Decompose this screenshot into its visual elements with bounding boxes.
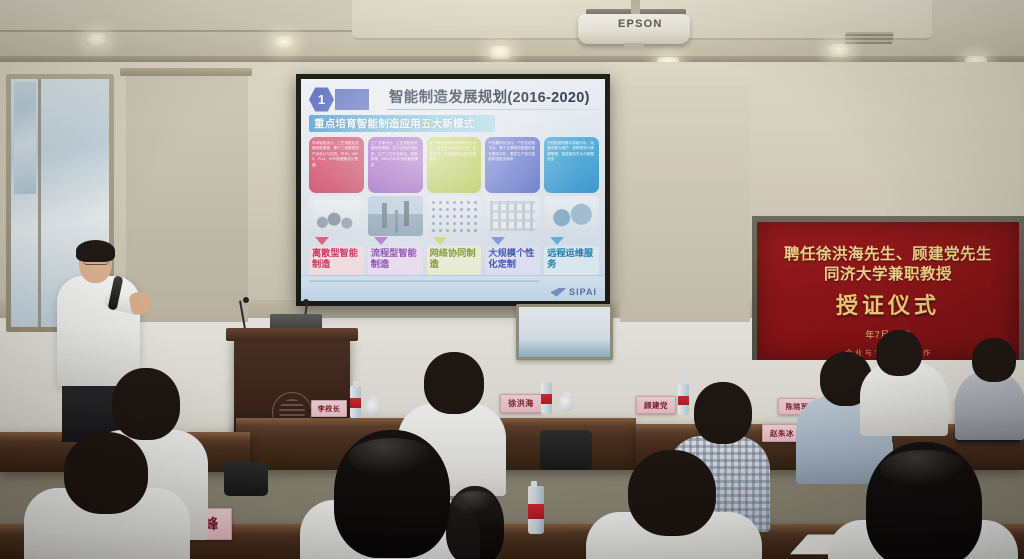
audience-hair-long (446, 486, 504, 559)
chair (224, 462, 268, 496)
slide-column-image (427, 196, 482, 236)
slide-column-image (544, 196, 599, 236)
slide-column-image (485, 196, 540, 236)
chevron-down-icon (491, 237, 505, 245)
slide-column-label: 流程型智能制造 (368, 246, 423, 276)
remote-service-icon (547, 199, 596, 233)
slide-column-body: 车间智能设计、工艺流程及关键参数建模、基于三维模型的产品设计与仿真、PDM、ME… (309, 137, 364, 193)
swoosh-icon (550, 288, 566, 297)
confidence-monitor-screen (519, 307, 610, 357)
blind-headrail (120, 68, 252, 76)
audience-head (628, 450, 716, 536)
module-grid-icon (490, 201, 535, 231)
tea-cup (366, 400, 381, 415)
glasses-icon (83, 259, 109, 265)
slide-footer-text-lines (309, 280, 539, 296)
slide-section-badge: 1 (309, 85, 385, 113)
network-diagram-icon (430, 199, 479, 233)
placard-name: 李校长 (318, 404, 341, 414)
machine-photo-icon (313, 200, 360, 232)
slide-title-rule (387, 109, 601, 110)
window-pane (14, 82, 36, 194)
banner-headline: 授证仪式 (757, 288, 1019, 320)
air-vent (844, 32, 893, 44)
placard-name: 赵朱冰 (770, 428, 794, 439)
water-bottle (678, 384, 689, 415)
chevron-down-icon (315, 237, 329, 245)
slide-column-body: 工厂总体设计、工艺流程及关键参数建模、生产过程在线检测、生产工艺在线优化、智能排… (368, 137, 423, 193)
banner-line-2: 同济大学兼职教授 (757, 262, 1019, 284)
audience-hair-long (334, 430, 450, 558)
audience-head (972, 338, 1016, 382)
projector-brand-label: EPSON (618, 18, 663, 30)
audience-head (694, 382, 752, 444)
name-placard[interactable]: 李校长 (311, 400, 347, 417)
projection-screen: 1 智能制造发展规划(2016-2020) 重点培育智能制造应用五大新模式 车间… (296, 74, 610, 306)
chevron-down-icon (433, 237, 447, 245)
slide-logo-text: SIPAI (569, 287, 597, 297)
slide-badge-tail (335, 89, 369, 110)
slide-column-label: 大规模个性化定制 (485, 246, 540, 276)
slide-section-number: 1 (309, 87, 334, 112)
water-bottle (541, 382, 552, 414)
microphone-head-icon (303, 299, 309, 305)
slide-column-label: 远程运维服务 (544, 246, 599, 276)
placard-name: 徐洪海 (508, 398, 534, 409)
placard-name: 顾建党 (644, 400, 668, 411)
water-bottle (350, 386, 361, 418)
slide-column-label: 离散型智能制造 (309, 246, 364, 276)
ceiling (0, 0, 1024, 62)
projector-mount (631, 0, 640, 14)
slide-column-image (368, 196, 423, 236)
photo-scene: EPSON 1 智能制造发展规划(2016-2020) 重点培育智能制造应用五大… (0, 0, 1024, 559)
water-bottle (528, 486, 544, 534)
slide-column-body: 建立网络化制造资源协同云平台、实现企业间研发系统、信息系统、运营管理系统的协同集… (427, 137, 482, 193)
audience-head (64, 432, 148, 514)
slide-subtitle-text: 重点培育智能制造应用五大新模式 (309, 116, 475, 131)
name-placard[interactable]: 顾建党 (636, 396, 676, 414)
audience-head (876, 330, 922, 376)
slide-column-body: 在线数据采集与智能分析、远程诊断与维护、故障预测与健康管理、智能服务平台与数据安… (544, 137, 599, 193)
chevron-down-icon (550, 237, 564, 245)
tea-cup (559, 396, 574, 411)
speaker-torso (57, 276, 140, 386)
confidence-monitor (516, 304, 613, 360)
window-blind (126, 72, 248, 322)
slide-logo: SIPAI (550, 287, 597, 297)
slide-column-row: 车间智能设计、工艺流程及关键参数建模、基于三维模型的产品设计与仿真、PDM、ME… (309, 137, 599, 283)
lectern-top (226, 328, 358, 341)
ceiling-downlight (828, 44, 850, 57)
audience-hair-long (866, 442, 982, 559)
ceiling-downlight (86, 33, 108, 46)
slide-column: 工厂总体设计、工艺流程及关键参数建模、生产过程在线检测、生产工艺在线优化、智能排… (368, 137, 423, 283)
banner-line-1: 聘任徐洪海先生、顾建党先生 (757, 242, 1019, 264)
slide-column-image (309, 196, 364, 236)
window-mullion (38, 79, 41, 327)
slide-column: 在线数据采集与智能分析、远程诊断与维护、故障预测与健康管理、智能服务平台与数据安… (544, 137, 599, 283)
plant-photo-icon (368, 196, 423, 236)
wall-panel-right (620, 86, 750, 322)
slide-surface: 1 智能制造发展规划(2016-2020) 重点培育智能制造应用五大新模式 车间… (301, 79, 605, 301)
slide-subtitle-bar: 重点培育智能制造应用五大新模式 (309, 115, 495, 132)
name-placard[interactable]: 徐洪海 (500, 394, 542, 413)
slide-column-label: 网络协同制造 (427, 246, 482, 276)
slide-column: 车间智能设计、工艺流程及关键参数建模、基于三维模型的产品设计与仿真、PDM、ME… (309, 137, 364, 283)
chevron-down-icon (374, 237, 388, 245)
slide-column-body: 产品模块化设计、个性化定制平台、基于互联网的数据采集及需求分析、柔性生产线与智能… (485, 137, 540, 193)
slide-footer: SIPAI (301, 275, 605, 301)
ceiling-downlight (489, 46, 511, 59)
microphone-head-icon (243, 297, 249, 303)
audience-head (424, 352, 484, 414)
slide-title: 智能制造发展规划(2016-2020) (389, 86, 601, 107)
audience-head (112, 368, 180, 440)
ceiling-seam (0, 30, 352, 32)
ceiling-downlight (273, 36, 295, 49)
slide-column: 建立网络化制造资源协同云平台、实现企业间研发系统、信息系统、运营管理系统的协同集… (427, 137, 482, 283)
slide-column: 产品模块化设计、个性化定制平台、基于互联网的数据采集及需求分析、柔性生产线与智能… (485, 137, 540, 283)
chair (540, 430, 592, 470)
